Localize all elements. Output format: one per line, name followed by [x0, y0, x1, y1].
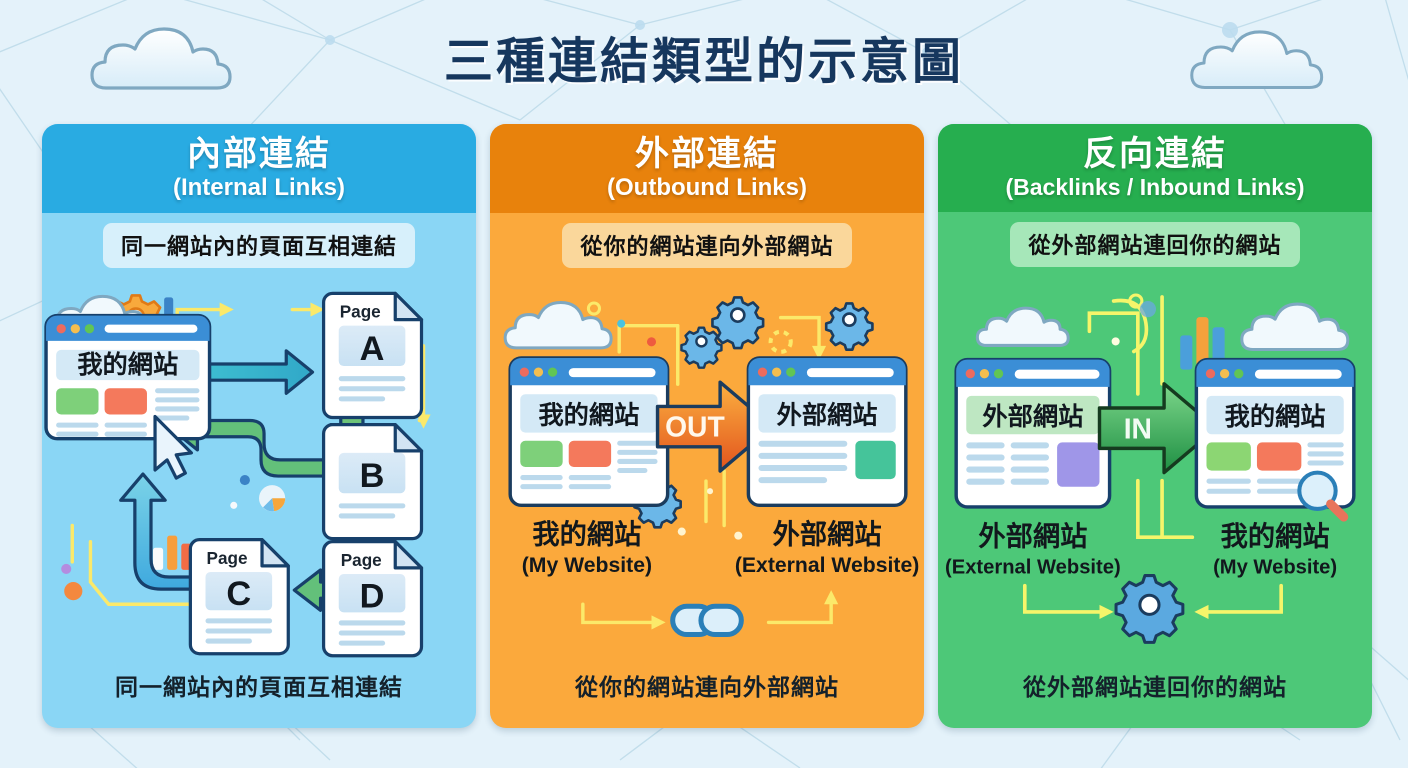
page-d-prefix: Page	[341, 550, 382, 570]
card-backlinks-subtitle-wrap: 從外部網站連回你的網站	[938, 212, 1372, 271]
page-card-b: B	[324, 425, 422, 539]
card-backlinks-title-cn: 反向連結	[944, 136, 1366, 173]
card-backlinks-footer: 從外部網站連回你的網站	[938, 668, 1372, 728]
card-internal-diagram: 我的網站 Page	[42, 272, 476, 668]
card-internal-subtitle-wrap: 同一網站內的頁面互相連結	[42, 213, 476, 272]
browser-window-my-site: 我的網站	[46, 316, 210, 439]
card-outbound-title-cn: 外部連結	[496, 136, 918, 173]
caption-right-cn-backlinks: 我的網站	[1221, 520, 1330, 551]
in-arrow-label: IN	[1124, 412, 1152, 444]
card-internal-footer: 同一網站內的頁面互相連結	[42, 668, 476, 728]
card-internal-links[interactable]: 內部連結 (Internal Links) 同一網站內的頁面互相連結	[42, 124, 476, 728]
card-internal-title-cn: 內部連結	[48, 136, 470, 173]
title-bar: 三種連結類型的示意圖	[0, 22, 1408, 93]
cloud-icon-left	[977, 308, 1068, 345]
caption-left-en-outbound: (My Website)	[522, 554, 652, 577]
page-d-letter: D	[360, 577, 385, 615]
browser-label-my-site: 我的網站	[77, 350, 178, 379]
card-internal-footer-text: 同一網站內的頁面互相連結	[115, 674, 403, 700]
card-internal-header: 內部連結 (Internal Links)	[42, 124, 476, 213]
cloud-icon-right	[1242, 304, 1348, 349]
cloud-icon	[505, 302, 611, 347]
gear-icon-bottom	[1116, 575, 1183, 642]
card-outbound-subtitle-wrap: 從你的網站連向外部網站	[490, 213, 924, 272]
card-outbound-subtitle: 從你的網站連向外部網站	[562, 223, 851, 268]
card-backlinks-footer-text: 從外部網站連回你的網站	[1023, 674, 1287, 700]
card-outbound-title-en: (Outbound Links)	[496, 174, 918, 202]
caption-right-en-backlinks: (My Website)	[1213, 556, 1337, 578]
cards-container: 內部連結 (Internal Links) 同一網站內的頁面互相連結	[42, 124, 1372, 728]
browser-window-external-site: 外部網站	[748, 358, 905, 505]
caption-left-en-backlinks: (External Website)	[945, 556, 1121, 578]
browser-label-left-outbound: 我的網站	[538, 401, 639, 430]
card-backlinks-title-en: (Backlinks / Inbound Links)	[944, 174, 1366, 200]
card-internal-title-en: (Internal Links)	[48, 174, 470, 202]
out-arrow-label: OUT	[665, 411, 725, 443]
gear-icon-large-top	[712, 297, 763, 348]
card-backlinks-header: 反向連結 (Backlinks / Inbound Links)	[938, 124, 1372, 212]
decorative-pie-icon	[259, 485, 285, 511]
card-backlinks-diagram: 外部網站 IN	[938, 271, 1372, 668]
page-a-letter: A	[360, 330, 385, 368]
page-card-c: Page C	[190, 540, 288, 654]
chain-link-icon	[673, 606, 742, 634]
browser-window-external-site: 外部網站	[956, 359, 1109, 506]
card-internal-subtitle: 同一網站內的頁面互相連結	[103, 223, 415, 268]
card-outbound-footer-text: 從你的網站連向外部網站	[575, 674, 839, 700]
gear-icon-right-top	[826, 303, 872, 349]
page-title: 三種連結類型的示意圖	[444, 35, 964, 89]
page-c-letter: C	[226, 575, 251, 613]
caption-left-cn-outbound: 我的網站	[532, 519, 641, 550]
caption-right-cn-outbound: 外部網站	[773, 519, 882, 550]
decorative-bar-chart-icon-2	[153, 536, 191, 570]
page-card-a: Page A	[324, 293, 422, 417]
card-backlinks-subtitle: 從外部網站連回你的網站	[1010, 222, 1299, 267]
caption-left-cn-backlinks: 外部網站	[978, 520, 1087, 551]
page-b-letter: B	[360, 457, 385, 495]
card-outbound-footer: 從你的網站連向外部網站	[490, 668, 924, 728]
caption-right-en-outbound: (External Website)	[735, 554, 919, 577]
browser-label-left-backlinks: 外部網站	[982, 402, 1083, 431]
gear-icon-small-top	[681, 328, 721, 368]
page-a-prefix: Page	[340, 302, 381, 322]
page-c-prefix: Page	[207, 548, 248, 568]
page-card-d: Page D	[324, 542, 422, 656]
card-outbound-links[interactable]: 外部連結 (Outbound Links) 從你的網站連向外部網站	[490, 124, 924, 728]
browser-window-my-site: 我的網站	[510, 358, 667, 505]
card-outbound-header: 外部連結 (Outbound Links)	[490, 124, 924, 213]
card-outbound-diagram: 我的網站 OUT	[490, 272, 924, 668]
card-backlinks[interactable]: 反向連結 (Backlinks / Inbound Links) 從外部網站連回…	[938, 124, 1372, 728]
browser-label-right-outbound: 外部網站	[777, 401, 878, 430]
browser-label-right-backlinks: 我的網站	[1225, 402, 1326, 431]
